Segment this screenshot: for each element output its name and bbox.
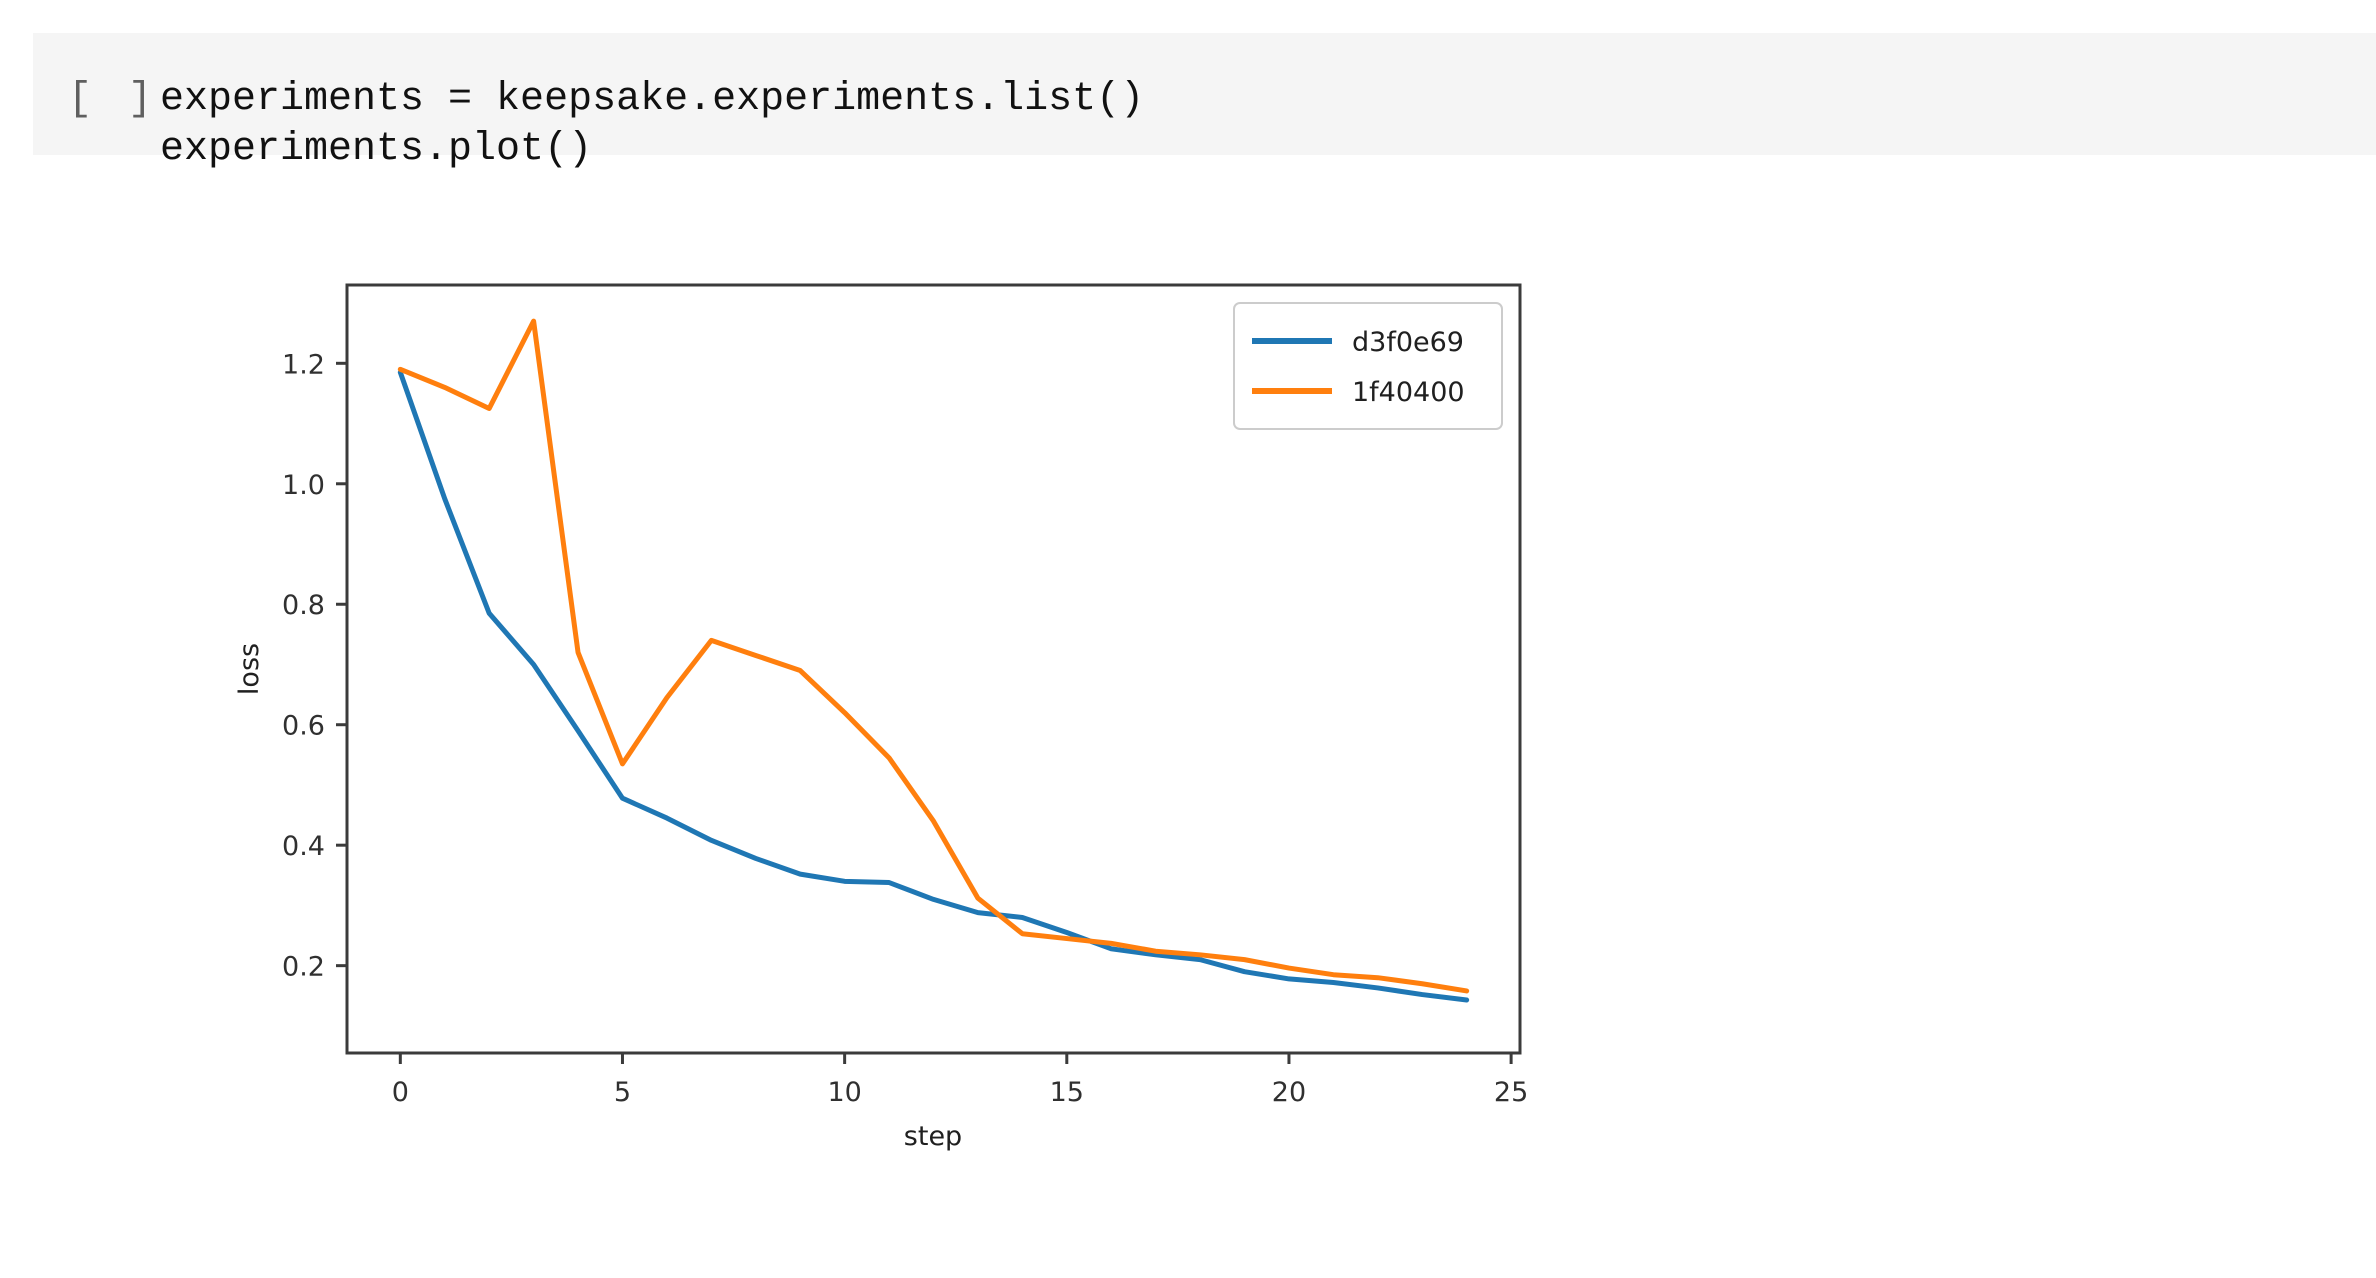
cell-source-code[interactable]: experiments = keepsake.experiments.list(… [160,75,1144,175]
series-line-d3f0e69 [400,372,1466,1000]
x-tick-label: 5 [614,1077,631,1108]
legend-box [1234,303,1502,429]
y-axis-tickmarks [336,363,347,965]
x-tick-label: 15 [1050,1077,1084,1108]
x-axis-label: step [904,1121,962,1152]
x-axis-tick-labels: 0510152025 [392,1077,1529,1108]
x-tick-label: 25 [1494,1077,1528,1108]
notebook-code-cell[interactable]: [ ] experiments = keepsake.experiments.l… [33,33,2376,155]
y-tick-label: 0.8 [282,590,325,621]
legend-label-d3f0e69: d3f0e69 [1352,327,1464,358]
y-tick-label: 0.4 [282,831,325,862]
y-tick-label: 0.6 [282,711,325,742]
y-tick-label: 0.2 [282,952,325,983]
loss-vs-step-line-chart: 0510152025 0.20.40.60.81.01.2 step loss … [150,170,1630,1170]
x-tick-label: 0 [392,1077,409,1108]
x-tick-label: 10 [827,1077,861,1108]
x-tick-label: 20 [1272,1077,1306,1108]
y-tick-label: 1.2 [282,349,325,380]
cell-execution-prompt[interactable]: [ ] [68,76,158,124]
x-axis-tickmarks [400,1053,1511,1064]
matplotlib-figure: 0510152025 0.20.40.60.81.01.2 step loss … [150,170,1630,1170]
chart-legend[interactable]: d3f0e691f40400 [1234,303,1502,429]
y-axis-label: loss [234,643,265,695]
legend-label-1f40400: 1f40400 [1352,377,1465,408]
y-axis-tick-labels: 0.20.40.60.81.01.2 [282,349,325,982]
y-tick-label: 1.0 [282,470,325,501]
